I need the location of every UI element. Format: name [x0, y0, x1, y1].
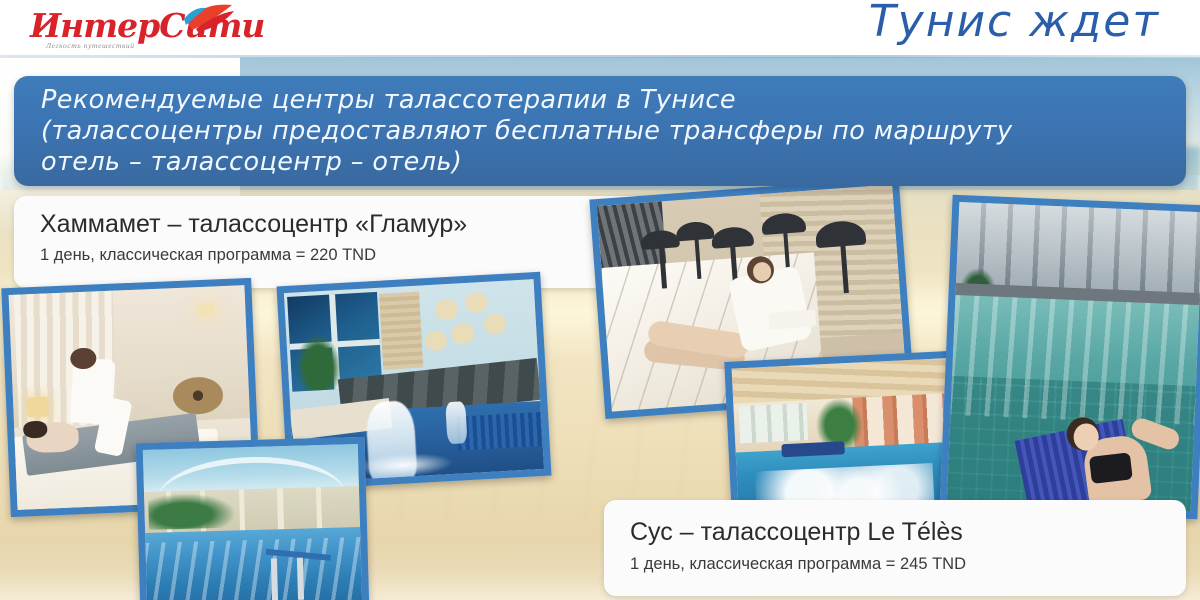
banner-line-3: отель – талассоцентр – отель)	[41, 147, 1161, 178]
card-title-hammamet: Хаммамет – талассоцентр «Гламур»	[40, 210, 467, 239]
card-title-sousse: Сус – талассоцентр Le Télès	[630, 518, 963, 547]
slide-canvas: ИнтерСити Легкость путешествий Тунис жде…	[0, 0, 1200, 600]
banner-line-1: Рекомендуемые центры талассотерапии в Ту…	[41, 85, 1161, 116]
bird-logo-icon	[182, 3, 236, 33]
photo-indoor-swimming-pool[interactable]	[136, 437, 370, 600]
banner-recommendation: Рекомендуемые центры талассотерапии в Ту…	[14, 76, 1186, 186]
banner-line-2: (талассоцентры предоставляют бесплатные …	[41, 116, 1161, 147]
photo-arched-hall-jacuzzi-pool[interactable]	[724, 350, 973, 521]
brand-logo[interactable]: ИнтерСити Легкость путешествий	[30, 4, 245, 54]
brand-tagline: Легкость путешествий	[46, 41, 135, 50]
header-divider	[0, 55, 1200, 58]
card-subtitle-sousse: 1 день, классическая программа = 245 TND	[630, 555, 966, 574]
banner-text-block: Рекомендуемые центры талассотерапии в Ту…	[41, 85, 1161, 178]
header-bar: ИнтерСити Легкость путешествий Тунис жде…	[0, 0, 1200, 57]
photo-thalasso-pool-woman[interactable]	[940, 195, 1200, 520]
card-subtitle-hammamet: 1 день, классическая программа = 220 TND	[40, 246, 376, 265]
page-title: Тунис ждет	[869, 0, 1160, 47]
info-card-sousse: Сус – талассоцентр Le Télès 1 день, клас…	[604, 500, 1186, 596]
